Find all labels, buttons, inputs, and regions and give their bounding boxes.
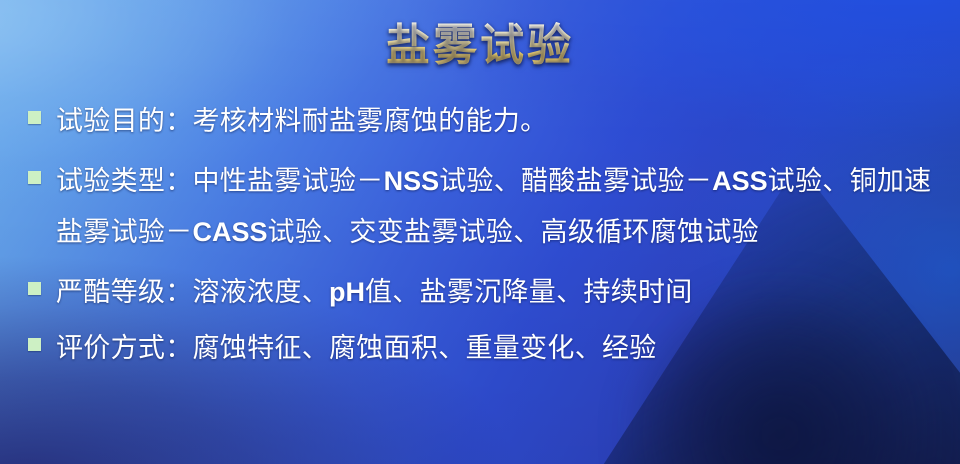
square-bullet-icon <box>28 111 41 124</box>
square-bullet-icon <box>28 338 41 351</box>
bullet-list: 试验目的：考核材料耐盐雾腐蚀的能力。 试验类型：中性盐雾试验－NSS试验、醋酸盐… <box>0 96 960 374</box>
inline-cjk-text: 严酷等级：溶液浓度、 <box>56 277 329 307</box>
inline-cjk-text: 试验、醋酸盐雾试验－ <box>439 166 712 196</box>
inline-cjk-text: 值、盐雾沉降量、持续时间 <box>365 277 693 307</box>
inline-latin-term: ASS <box>712 166 768 196</box>
bullet-text-evaluation: 评价方式：腐蚀特征、腐蚀面积、重量变化、经验 <box>56 323 952 374</box>
bullet-text-severity: 严酷等级：溶液浓度、pH值、盐雾沉降量、持续时间 <box>56 267 952 318</box>
bullet-text-purpose: 试验目的：考核材料耐盐雾腐蚀的能力。 <box>56 96 952 147</box>
slide-title: 盐雾试验 <box>386 22 574 70</box>
bullet-text-types: 试验类型：中性盐雾试验－NSS试验、醋酸盐雾试验－ASS试验、铜加速盐雾试验－C… <box>56 156 952 258</box>
square-bullet-icon <box>28 171 41 184</box>
list-item: 试验类型：中性盐雾试验－NSS试验、醋酸盐雾试验－ASS试验、铜加速盐雾试验－C… <box>0 156 960 258</box>
list-item: 严酷等级：溶液浓度、pH值、盐雾沉降量、持续时间 <box>0 267 960 318</box>
list-item: 评价方式：腐蚀特征、腐蚀面积、重量变化、经验 <box>0 323 960 374</box>
list-item: 试验目的：考核材料耐盐雾腐蚀的能力。 <box>0 96 960 147</box>
slide-title-container: 盐雾试验 <box>0 22 960 70</box>
inline-latin-term: CASS <box>193 217 268 247</box>
square-bullet-icon <box>28 282 41 295</box>
presentation-slide: 盐雾试验 试验目的：考核材料耐盐雾腐蚀的能力。 试验类型：中性盐雾试验－NSS试… <box>0 0 960 464</box>
inline-latin-term: NSS <box>384 166 440 196</box>
inline-cjk-text: 试验类型：中性盐雾试验－ <box>56 166 384 196</box>
inline-cjk-text: 试验、交变盐雾试验、高级循环腐蚀试验 <box>268 217 759 247</box>
inline-latin-term: pH <box>329 277 365 307</box>
inline-cjk-text: 试验目的：考核材料耐盐雾腐蚀的能力。 <box>56 106 547 136</box>
inline-cjk-text: 评价方式：腐蚀特征、腐蚀面积、重量变化、经验 <box>56 333 657 363</box>
